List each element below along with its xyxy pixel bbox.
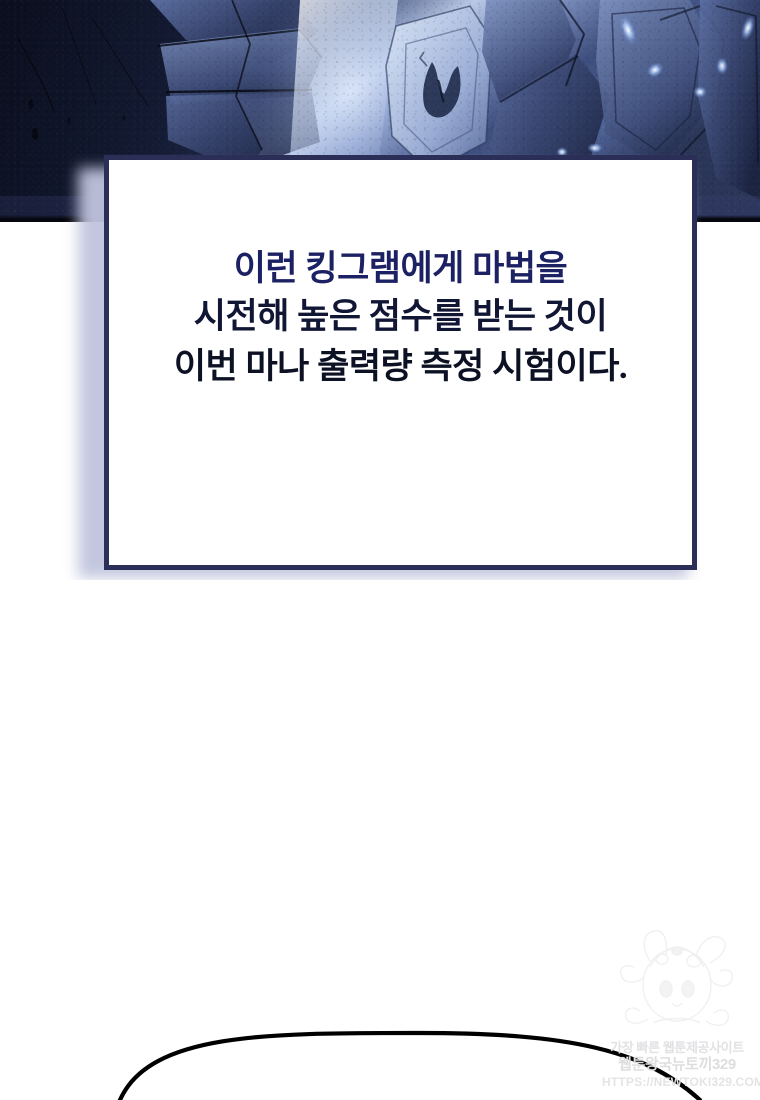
narration-text: 이런 킹그램에게 마법을 시전해 높은 점수를 받는 것이 이번 마나 출력량 … bbox=[109, 246, 692, 480]
narration-box: 이런 킹그램에게 마법을 시전해 높은 점수를 받는 것이 이번 마나 출력량 … bbox=[104, 155, 697, 570]
webtoon-page: 이런 킹그램에게 마법을 시전해 높은 점수를 받는 것이 이번 마나 출력량 … bbox=[0, 0, 760, 1100]
bottom-arc-illustration bbox=[0, 580, 760, 1100]
head-outline-arc bbox=[120, 1033, 700, 1100]
narration-line-1: 이런 킹그램에게 마법을 bbox=[109, 246, 692, 292]
bottom-panel bbox=[0, 580, 760, 1100]
narration-line-2: 시전해 높은 점수를 받는 것이 bbox=[109, 292, 692, 342]
narration-line-3: 이번 마나 출력량 측정 시험이다. bbox=[109, 342, 692, 392]
